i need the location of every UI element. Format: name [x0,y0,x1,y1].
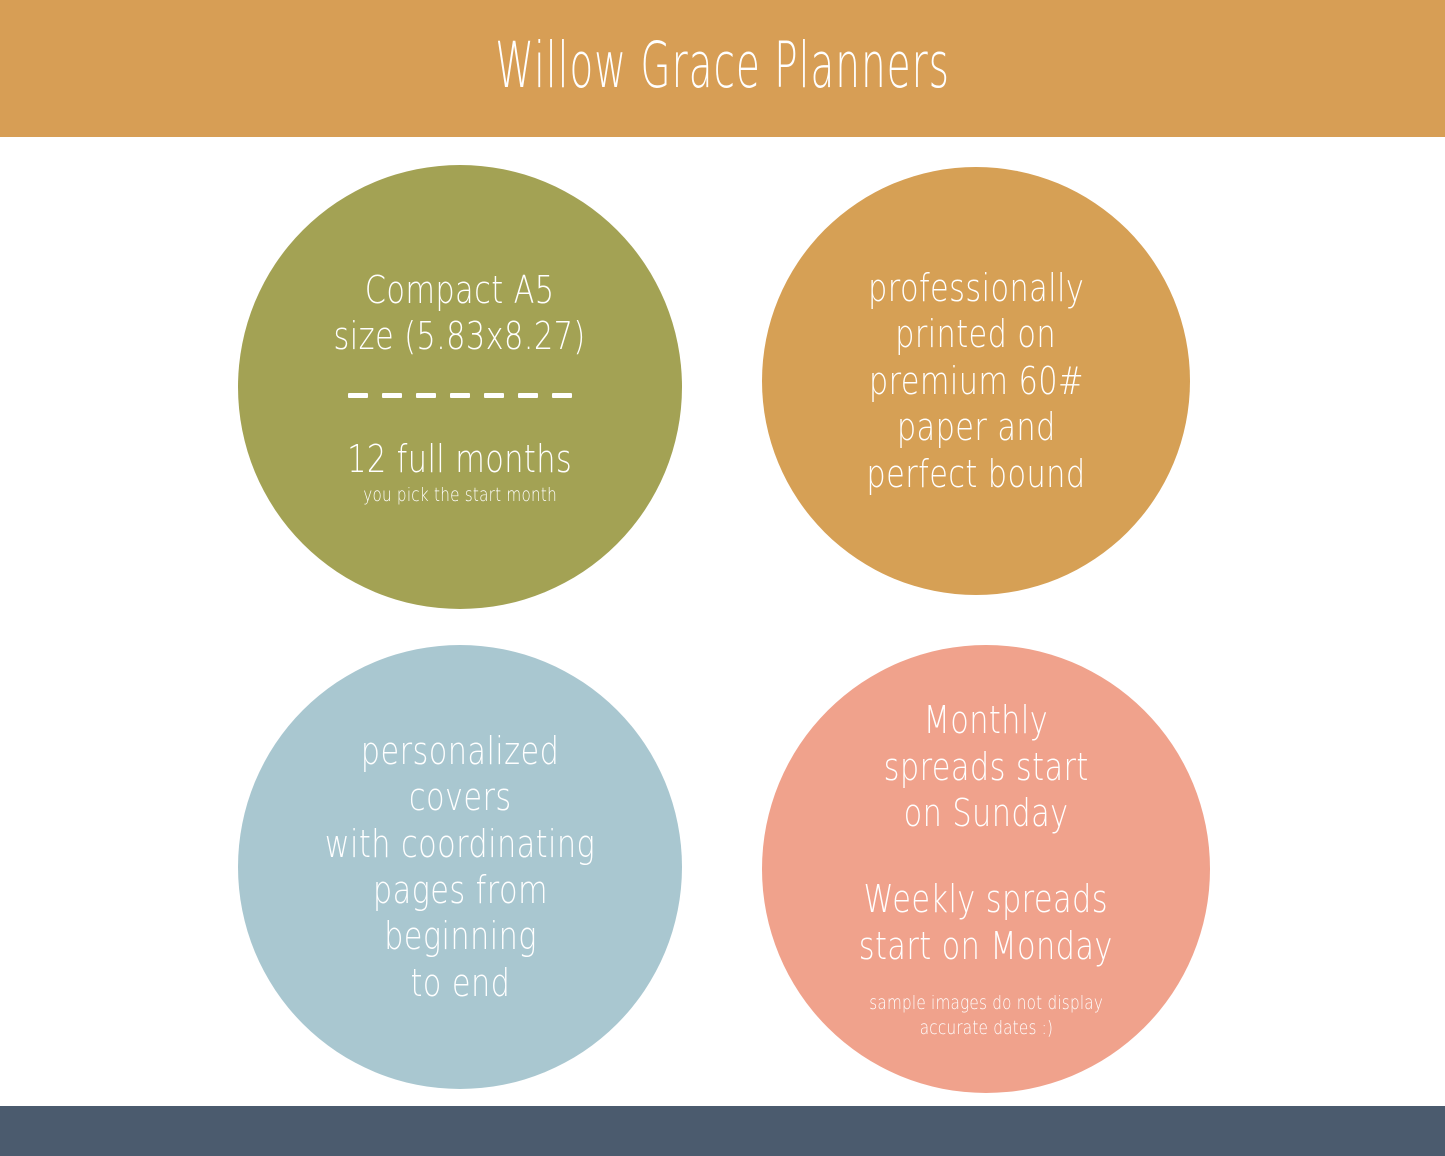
spread-start-days-circle: Monthly spreads start on Sunday Weekly s… [762,645,1210,1093]
monthly-line-3: on Sunday [904,790,1069,836]
weekly-line-2: start on Monday [859,923,1113,969]
header-bar: Willow Grace Planners [0,0,1445,137]
spreads-footnote-line-2: accurate dates :) [919,1016,1053,1041]
size-line-2: size (5.83x8.27) [334,313,586,359]
covers-line-4: pages from [372,867,547,913]
print-line-1: professionally [868,265,1084,311]
covers-line-3: with coordinating [325,821,595,867]
printing-quality-circle: professionally printed on premium 60# pa… [762,167,1190,595]
print-line-2: printed on [896,311,1057,357]
spreads-footnote-block: sample images do not display accurate da… [840,991,1132,1040]
covers-line-6: to end [410,960,510,1006]
months-line: 12 full months [347,436,572,482]
feature-circle-grid: Compact A5 size (5.83x8.27) 12 full mont… [0,137,1445,1106]
covers-line-5: beginning [384,913,537,959]
print-line-4: paper and [897,404,1056,450]
divider-dash [416,393,436,398]
divider-dash [484,393,504,398]
weekly-line-1: Weekly spreads [864,876,1108,922]
divider-dash [552,393,572,398]
compact-size-circle: Compact A5 size (5.83x8.27) 12 full mont… [238,165,682,609]
weekly-spread-block: Weekly spreads start on Monday [827,876,1145,969]
dashed-divider [348,393,572,398]
covers-text-block: personalized covers with coordinating pa… [291,728,629,1006]
spreads-footnote-line-1: sample images do not display [869,991,1103,1016]
size-text-block: Compact A5 size (5.83x8.27) [302,267,617,360]
infographic-page: Willow Grace Planners Compact A5 size (5… [0,0,1445,1156]
print-line-3: premium 60# [868,358,1083,404]
monthly-line-1: Monthly [924,697,1049,743]
divider-dash [382,393,402,398]
covers-line-1: personalized [361,728,559,774]
print-line-5: perfect bound [866,451,1085,497]
covers-line-2: covers [409,774,512,820]
divider-dash [450,393,470,398]
monthly-line-2: spreads start [883,744,1088,790]
footer-bar [0,1106,1445,1156]
start-month-note: you pick the start month [363,483,557,508]
print-text-block: professionally printed on premium 60# pa… [839,265,1113,497]
page-title: Willow Grace Planners [495,34,950,103]
monthly-spread-block: Monthly spreads start on Sunday [858,697,1114,836]
divider-dash [348,393,368,398]
months-text-block: 12 full months you pick the start month [319,436,600,507]
size-line-1: Compact A5 [365,267,555,313]
personalized-covers-circle: personalized covers with coordinating pa… [238,645,682,1089]
divider-dash [518,393,538,398]
